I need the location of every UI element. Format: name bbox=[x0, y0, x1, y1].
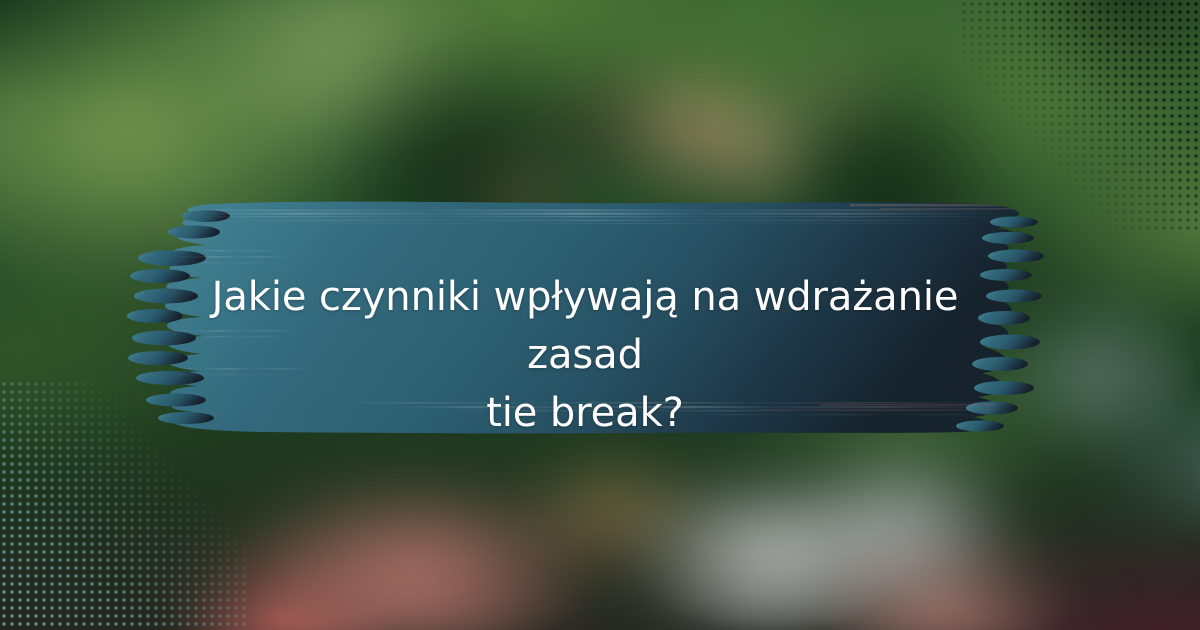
social-share-card: Jakie czynniki wpływają na wdrażanie zas… bbox=[0, 0, 1200, 630]
page-title: Jakie czynniki wpływają na wdrażanie zas… bbox=[185, 268, 985, 442]
